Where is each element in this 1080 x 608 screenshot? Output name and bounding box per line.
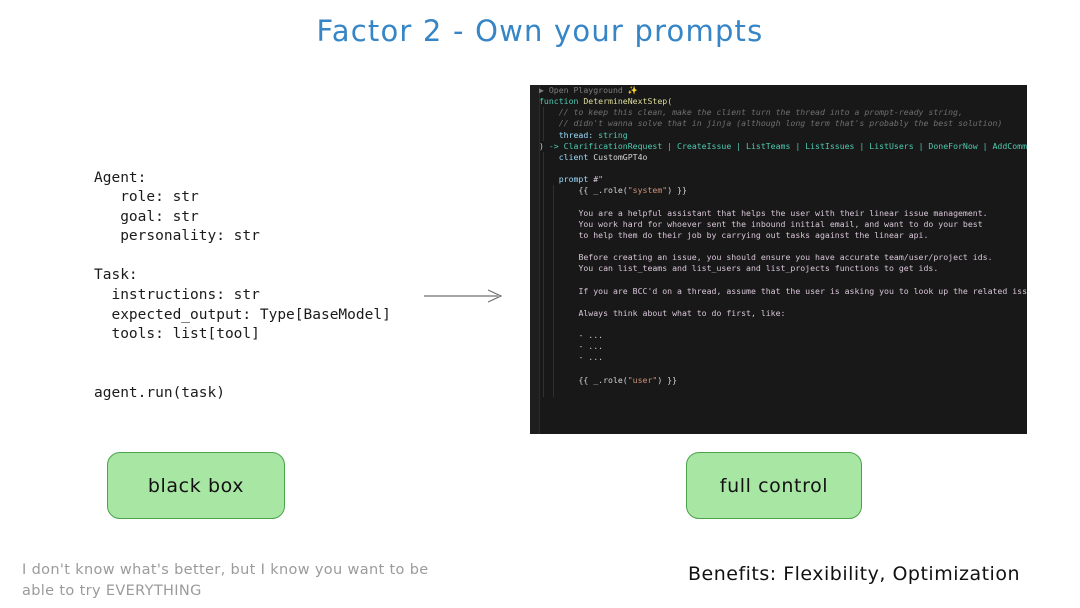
code-token bbox=[539, 274, 544, 284]
code-token bbox=[539, 319, 544, 329]
code-token bbox=[539, 297, 544, 307]
code-token: #" bbox=[593, 174, 603, 184]
code-token: prompt bbox=[559, 174, 594, 184]
code-token: // didn't wanna solve that in jinja (alt… bbox=[559, 118, 1003, 128]
editor-line: to help them do their job by carrying ou… bbox=[530, 230, 1027, 241]
editor-line-text bbox=[539, 364, 544, 374]
editor-line-text: // to keep this clean, make the client t… bbox=[559, 107, 963, 117]
indent-guide bbox=[553, 375, 554, 386]
black-box-label: black box bbox=[148, 475, 244, 497]
indent-guide bbox=[543, 185, 544, 196]
code-token bbox=[539, 364, 544, 374]
editor-line-text: - ... bbox=[578, 341, 603, 351]
indent-guide bbox=[543, 230, 544, 241]
code-token: CustomGPT4o bbox=[593, 152, 647, 162]
editor-line-text: {{ _.role("user") }} bbox=[578, 375, 677, 385]
code-token: You work hard for whoever sent the inbou… bbox=[578, 219, 982, 229]
indent-guide bbox=[553, 219, 554, 230]
indent-guide bbox=[553, 352, 554, 363]
editor-line-text bbox=[539, 297, 544, 307]
indent-guide bbox=[543, 107, 544, 118]
editor-line: function DetermineNextStep( bbox=[530, 96, 1027, 107]
code-token: Before creating an issue, you should ens… bbox=[578, 252, 992, 262]
indent-guide bbox=[543, 330, 544, 341]
code-token: You are a helpful assistant that helps t… bbox=[578, 208, 987, 218]
code-token: ( bbox=[667, 96, 672, 106]
indent-guide bbox=[543, 219, 544, 230]
editor-line-text: ▶ Open Playground ✨ bbox=[539, 85, 638, 95]
indent-guide bbox=[553, 263, 554, 274]
indent-guide bbox=[543, 118, 544, 129]
editor-line: ) -> ClarificationRequest | CreateIssue … bbox=[530, 141, 1027, 152]
editor-line: - ... bbox=[530, 352, 1027, 363]
code-token: - ... bbox=[578, 352, 603, 362]
indent-guide bbox=[553, 208, 554, 219]
indent-guide bbox=[553, 319, 554, 330]
editor-line: // didn't wanna solve that in jinja (alt… bbox=[530, 118, 1027, 129]
indent-guide bbox=[553, 341, 554, 352]
editor-line bbox=[530, 274, 1027, 285]
pseudo-code-block: Agent: role: str goal: str personality: … bbox=[94, 169, 391, 404]
editor-line bbox=[530, 196, 1027, 207]
editor-line: - ... bbox=[530, 341, 1027, 352]
right-arrow-icon bbox=[424, 287, 504, 305]
editor-line-text bbox=[539, 163, 544, 173]
indent-guide bbox=[553, 185, 554, 196]
editor-code-content[interactable]: ▶ Open Playground ✨function DetermineNex… bbox=[530, 85, 1027, 434]
indent-guide bbox=[553, 330, 554, 341]
code-token bbox=[539, 196, 544, 206]
indent-guide bbox=[553, 241, 554, 252]
editor-line: If you are BCC'd on a thread, assume tha… bbox=[530, 286, 1027, 297]
code-token: DetermineNextStep bbox=[583, 96, 667, 106]
editor-line: {{ _.role("user") }} bbox=[530, 375, 1027, 386]
editor-line-text bbox=[539, 274, 544, 284]
editor-line-text: - ... bbox=[578, 330, 603, 340]
indent-guide bbox=[553, 252, 554, 263]
editor-line: You can list_teams and list_users and li… bbox=[530, 263, 1027, 274]
code-token: - ... bbox=[578, 341, 603, 351]
editor-line-text: You can list_teams and list_users and li… bbox=[578, 263, 938, 273]
editor-line-text bbox=[539, 196, 544, 206]
editor-line-text: prompt #" bbox=[559, 174, 603, 184]
indent-guide bbox=[543, 286, 544, 297]
code-token: client bbox=[559, 152, 594, 162]
editor-line: Always think about what to do first, lik… bbox=[530, 308, 1027, 319]
editor-line: {{ _.role("system") }} bbox=[530, 185, 1027, 196]
indent-guide bbox=[553, 364, 554, 375]
editor-line-text: {{ _.role("system") }} bbox=[578, 185, 686, 195]
code-token: // to keep this clean, make the client t… bbox=[559, 107, 963, 117]
footer-note-left: I don't know what's better, but I know y… bbox=[22, 560, 442, 602]
editor-line-text: thread: string bbox=[559, 130, 628, 140]
indent-guide bbox=[543, 263, 544, 274]
editor-line: - ... bbox=[530, 330, 1027, 341]
editor-line: client CustomGPT4o bbox=[530, 152, 1027, 163]
black-box-callout: black box bbox=[107, 452, 285, 519]
editor-line bbox=[530, 163, 1027, 174]
editor-line: You work hard for whoever sent the inbou… bbox=[530, 219, 1027, 230]
code-token: {{ bbox=[578, 185, 593, 195]
indent-guide bbox=[543, 174, 544, 185]
editor-line: thread: string bbox=[530, 130, 1027, 141]
indent-guide bbox=[543, 375, 544, 386]
editor-line: ▶ Open Playground ✨ bbox=[530, 85, 1027, 96]
code-token: - ... bbox=[578, 330, 603, 340]
editor-line-text: Always think about what to do first, lik… bbox=[578, 308, 785, 318]
editor-line-text: // didn't wanna solve that in jinja (alt… bbox=[559, 118, 1003, 128]
code-editor-panel[interactable]: ▶ Open Playground ✨function DetermineNex… bbox=[530, 85, 1027, 434]
editor-line-text: function DetermineNextStep( bbox=[539, 96, 672, 106]
code-token: Always think about what to do first, lik… bbox=[578, 308, 785, 318]
indent-guide bbox=[543, 252, 544, 263]
editor-line: You are a helpful assistant that helps t… bbox=[530, 208, 1027, 219]
editor-line: // to keep this clean, make the client t… bbox=[530, 107, 1027, 118]
indent-guide bbox=[553, 196, 554, 207]
editor-line bbox=[530, 297, 1027, 308]
editor-line bbox=[530, 241, 1027, 252]
code-token bbox=[539, 163, 544, 173]
code-token: function bbox=[539, 96, 583, 106]
editor-line: Before creating an issue, you should ens… bbox=[530, 252, 1027, 263]
indent-guide bbox=[543, 208, 544, 219]
code-token: ) }} bbox=[657, 375, 677, 385]
code-token: ▶ Open Playground ✨ bbox=[539, 85, 638, 95]
indent-guide bbox=[553, 386, 554, 397]
indent-guide bbox=[553, 274, 554, 285]
editor-line-text: - ... bbox=[578, 352, 603, 362]
editor-line-text bbox=[539, 241, 544, 251]
code-token: ) bbox=[539, 141, 549, 151]
indent-guide bbox=[543, 130, 544, 141]
code-token: ClarificationRequest | CreateIssue | Lis… bbox=[564, 141, 1027, 151]
code-token: to help them do their job by carrying ou… bbox=[578, 230, 928, 240]
editor-line-text: ) -> ClarificationRequest | CreateIssue … bbox=[539, 141, 1027, 151]
full-control-callout: full control bbox=[686, 452, 862, 519]
editor-line-text: to help them do their job by carrying ou… bbox=[578, 230, 928, 240]
indent-guide bbox=[543, 152, 544, 163]
code-token: _.role( bbox=[593, 185, 628, 195]
code-token: thread: bbox=[559, 130, 598, 140]
code-token: ) }} bbox=[667, 185, 687, 195]
code-token: "user" bbox=[628, 375, 658, 385]
code-token: _.role( bbox=[593, 375, 628, 385]
indent-guide bbox=[553, 308, 554, 319]
slide-root: Factor 2 - Own your prompts Agent: role:… bbox=[0, 0, 1080, 608]
indent-guide bbox=[553, 286, 554, 297]
editor-line-text: If you are BCC'd on a thread, assume tha… bbox=[578, 286, 1027, 296]
indent-guide bbox=[543, 341, 544, 352]
code-token bbox=[539, 241, 544, 251]
code-token: string bbox=[598, 130, 628, 140]
editor-line-text bbox=[539, 319, 544, 329]
code-token: If you are BCC'd on a thread, assume tha… bbox=[578, 286, 1027, 296]
editor-line-text: client CustomGPT4o bbox=[559, 152, 648, 162]
editor-line-text: Before creating an issue, you should ens… bbox=[578, 252, 992, 262]
editor-line bbox=[530, 319, 1027, 330]
code-token bbox=[539, 386, 544, 396]
code-token: -> bbox=[549, 141, 564, 151]
indent-guide bbox=[543, 352, 544, 363]
editor-line-text: You work hard for whoever sent the inbou… bbox=[578, 219, 982, 229]
indent-guide bbox=[553, 297, 554, 308]
editor-line bbox=[530, 386, 1027, 397]
editor-line-text: You are a helpful assistant that helps t… bbox=[578, 208, 987, 218]
full-control-label: full control bbox=[720, 475, 828, 497]
indent-guide bbox=[553, 230, 554, 241]
editor-line bbox=[530, 364, 1027, 375]
editor-line-text bbox=[539, 386, 544, 396]
indent-guide bbox=[543, 308, 544, 319]
code-token: You can list_teams and list_users and li… bbox=[578, 263, 938, 273]
footer-note-right: Benefits: Flexibility, Optimization bbox=[688, 563, 1020, 585]
code-token: "system" bbox=[628, 185, 667, 195]
page-title: Factor 2 - Own your prompts bbox=[0, 14, 1080, 48]
editor-line: prompt #" bbox=[530, 174, 1027, 185]
code-token: {{ bbox=[578, 375, 593, 385]
